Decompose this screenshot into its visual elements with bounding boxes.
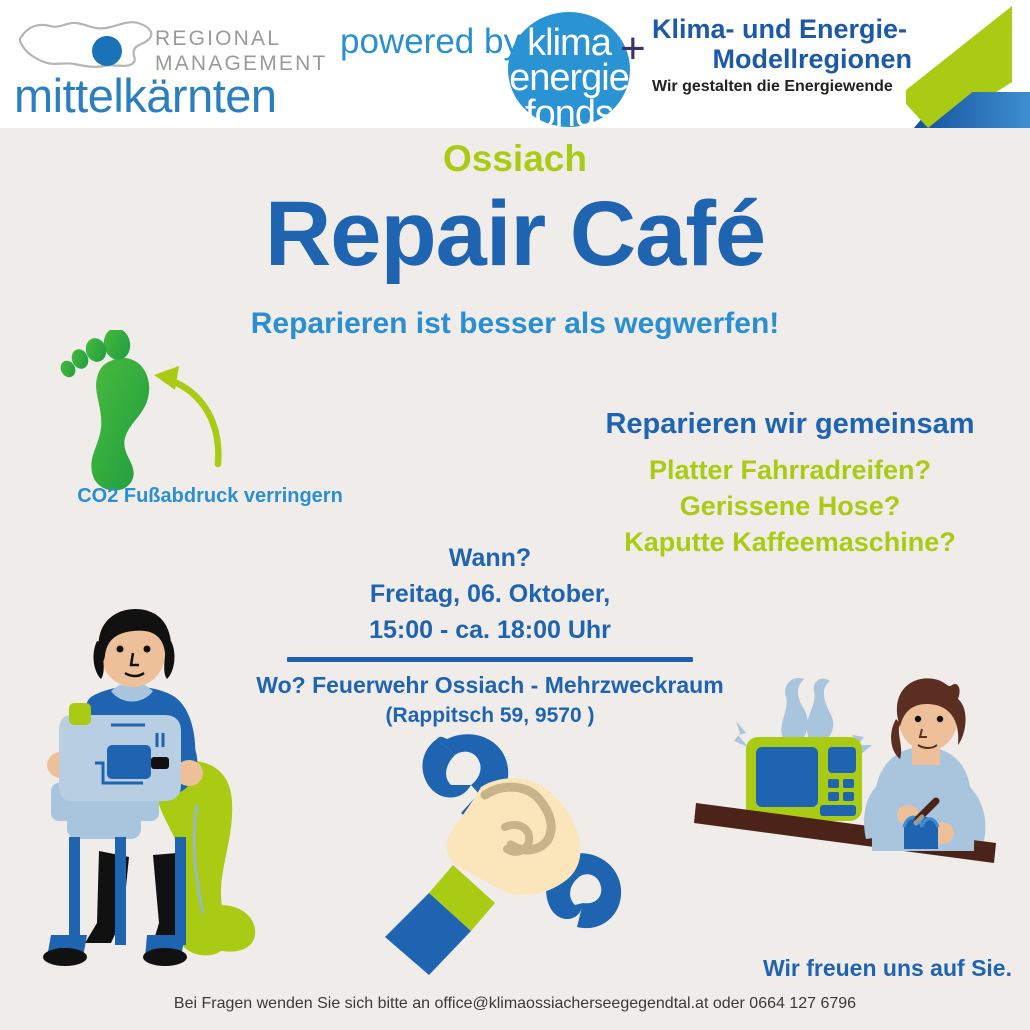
event-time: 15:00 - ca. 18:00 Uhr (230, 612, 750, 648)
divider (287, 657, 693, 662)
list-item: Gerissene Hose? (560, 488, 1020, 524)
kem-line-1: Klima- und Energie- (652, 14, 912, 44)
klimaenergiefonds-logo: klima energie fonds (508, 12, 630, 127)
powered-by-label: powered by (340, 22, 521, 62)
plus-sign: + (620, 24, 646, 74)
event-location: Wo? Feuerwehr Ossiach - Mehrzweckraum (230, 670, 750, 701)
kef-line-fonds: fonds (508, 97, 630, 128)
regionalmanagement-logo: REGIONAL MANAGEMENT mittelkärnten (10, 12, 330, 117)
poster-root: REGIONAL MANAGEMENT mittelkärnten powere… (0, 0, 1030, 1030)
co2-footprint-block: CO2 Fußabdruck verringern (55, 330, 365, 530)
closing-message: Wir freuen uns auf Sie. (763, 955, 1012, 982)
location-title: Ossiach (0, 138, 1030, 180)
regional-line: REGIONAL (155, 26, 328, 51)
location-dot-icon (92, 36, 122, 66)
hand-holding-wrench-illustration (385, 725, 650, 975)
co2-label: CO2 Fußabdruck verringern (45, 485, 375, 508)
questions-heading: Reparieren wir gemeinsam (560, 408, 1020, 441)
kef-line-energie: energie (508, 61, 630, 96)
kem-line-2: Modellregionen (652, 44, 912, 74)
contact-info: Bei Fragen wenden Sie sich bitte an offi… (0, 995, 1030, 1013)
kem-slogan: Wir gestalten die Energiewende (652, 76, 912, 98)
event-details: Wann? Freitag, 06. Oktober, 15:00 - ca. … (230, 540, 750, 731)
event-date: Freitag, 06. Oktober, (230, 576, 750, 612)
mittelkaernten-wordmark: mittelkärnten (14, 70, 277, 122)
curved-arrow-icon (154, 366, 218, 464)
woman-repairing-smoking-microwave-illustration (690, 675, 1005, 910)
list-item: Platter Fahrradreifen? (560, 452, 1020, 488)
sponsor-header-band: REGIONAL MANAGEMENT mittelkärnten powere… (0, 0, 1030, 128)
when-label: Wann? (230, 540, 750, 576)
kef-line-klima: klima (508, 12, 630, 61)
kem-wordmark: Klima- und Energie- Modellregionen Wir g… (652, 14, 912, 98)
kem-chevron-logo-icon (898, 0, 1030, 128)
page-title: Repair Café (0, 184, 1030, 284)
woman-sewing-machine-illustration (25, 605, 285, 975)
